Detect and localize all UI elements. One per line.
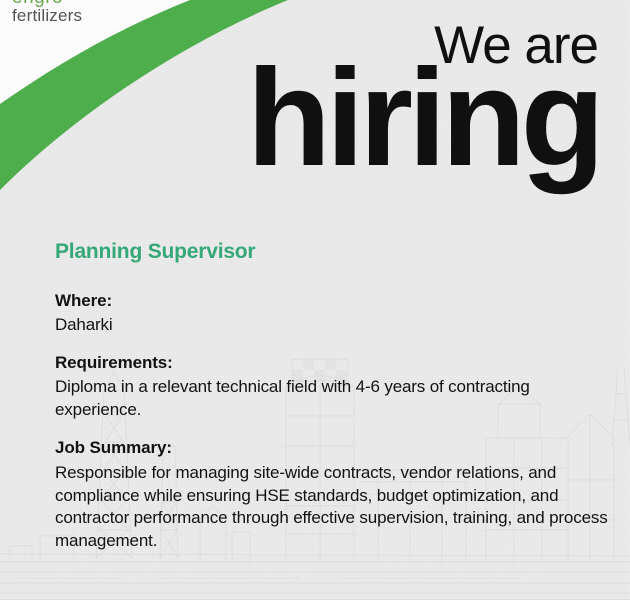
job-title: Planning Supervisor [55, 240, 608, 264]
job-details: Planning Supervisor Where: Daharki Requi… [55, 240, 608, 553]
field-label: Job Summary: [55, 437, 608, 458]
company-logo: engro fertilizers [12, 0, 82, 25]
headline-line-2: hiring [247, 63, 600, 173]
field-value: Diploma in a relevant technical field wi… [55, 376, 608, 422]
field-requirements: Requirements: Diploma in a relevant tech… [55, 352, 608, 422]
field-job-summary: Job Summary: Responsible for managing si… [55, 437, 608, 553]
field-label: Requirements: [55, 352, 608, 373]
field-value: Daharki [55, 314, 608, 337]
headline: We are hiring [247, 22, 600, 173]
job-poster: engro fertilizers We are hiring Planning… [0, 0, 630, 600]
logo-word-text: fertilizers [12, 7, 82, 24]
field-where: Where: Daharki [55, 290, 608, 337]
field-value: Responsible for managing site-wide contr… [55, 462, 608, 554]
field-label: Where: [55, 290, 608, 311]
